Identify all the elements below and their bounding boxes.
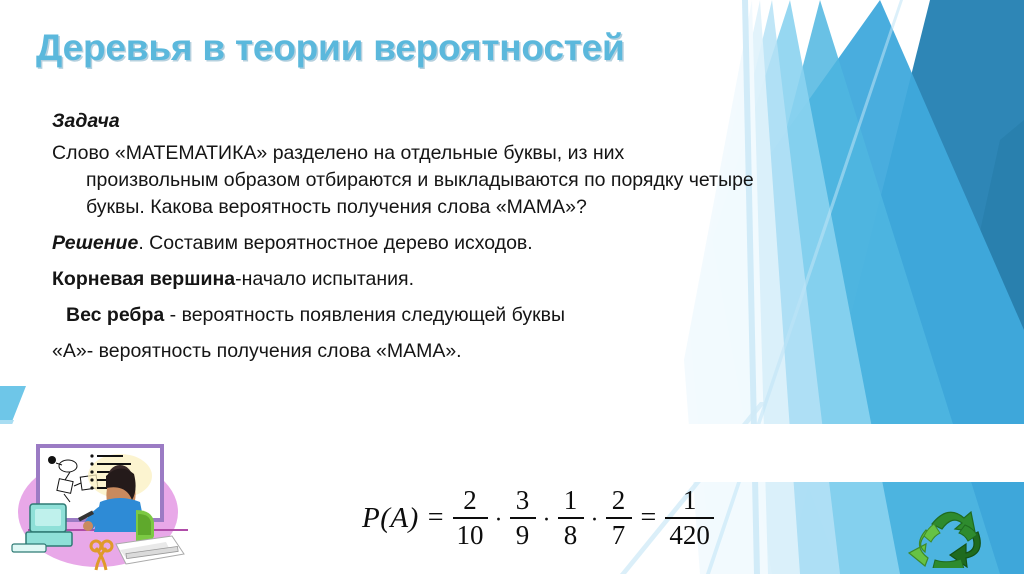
edge-weight-label: Вес ребра bbox=[66, 304, 164, 326]
formula-factor-2-denominator: 9 bbox=[512, 522, 534, 549]
root-vertex-line: Корневая вершина-начало испытания. bbox=[52, 266, 952, 293]
solution-label: Решение bbox=[52, 232, 138, 254]
formula-factor-4: 2 7 bbox=[606, 487, 632, 549]
formula-result: 1 420 bbox=[665, 487, 714, 549]
slide-body: Задача Слово «МАТЕМАТИКА» разделено на о… bbox=[52, 108, 952, 374]
formula-factor-3-numerator: 1 bbox=[560, 487, 582, 514]
formula-factor-2: 3 9 bbox=[510, 487, 536, 549]
problem-line-3: буквы. Какова вероятность получения слов… bbox=[52, 194, 952, 221]
solution-line: Решение. Составим вероятностное дерево и… bbox=[52, 230, 952, 257]
formula-result-numerator: 1 bbox=[679, 487, 701, 514]
fraction-bar bbox=[665, 517, 714, 519]
edge-weight-line: Вес ребра - вероятность появления следую… bbox=[52, 302, 952, 329]
formula-lhs: P(A) bbox=[362, 502, 419, 535]
formula-multiply-2: · bbox=[543, 507, 551, 534]
formula-multiply-1: · bbox=[495, 507, 503, 534]
solution-text: . Составим вероятностное дерево исходов. bbox=[138, 232, 532, 254]
slide-canvas: Деревья в теории вероятностей Задача Сло… bbox=[0, 0, 1024, 574]
edge-weight-text: - вероятность появления следующей буквы bbox=[164, 304, 565, 326]
recycling-symbol bbox=[902, 498, 1000, 568]
formula-factor-1-denominator: 10 bbox=[453, 522, 488, 549]
formula-factor-1-numerator: 2 bbox=[459, 487, 481, 514]
formula-multiply-3: · bbox=[591, 507, 599, 534]
formula-result-denominator: 420 bbox=[665, 522, 714, 549]
formula-factor-2-numerator: 3 bbox=[512, 487, 534, 514]
event-definition-line: «А»- вероятность получения слова «МАМА». bbox=[52, 338, 952, 365]
formula-factor-3: 1 8 bbox=[558, 487, 584, 549]
problem-heading: Задача bbox=[52, 108, 952, 135]
problem-line-1: Слово «МАТЕМАТИКА» разделено на отдельны… bbox=[52, 142, 624, 164]
formula-equals-1: = bbox=[428, 502, 444, 534]
problem-heading-label: Задача bbox=[52, 110, 120, 132]
page-title: Деревья в теории вероятностей bbox=[36, 27, 625, 69]
problem-line-2: произвольным образом отбираются и выклад… bbox=[52, 167, 952, 194]
formula-factor-4-numerator: 2 bbox=[608, 487, 630, 514]
teacher-at-whiteboard-clipart bbox=[8, 432, 194, 574]
formula-factor-4-denominator: 7 bbox=[608, 522, 630, 549]
problem-statement: Слово «МАТЕМАТИКА» разделено на отдельны… bbox=[52, 140, 952, 221]
probability-formula: P(A) = 2 10 · 3 9 · 1 8 · 2 7 = 1 bbox=[362, 487, 714, 549]
event-definition-text: «А»- вероятность получения слова «МАМА». bbox=[52, 340, 462, 362]
fraction-bar bbox=[558, 517, 584, 519]
formula-factor-1: 2 10 bbox=[453, 487, 488, 549]
fraction-bar bbox=[510, 517, 536, 519]
fraction-bar bbox=[453, 517, 488, 519]
formula-factor-3-denominator: 8 bbox=[560, 522, 582, 549]
fraction-bar bbox=[606, 517, 632, 519]
root-vertex-label: Корневая вершина bbox=[52, 268, 235, 290]
root-vertex-text: -начало испытания. bbox=[235, 268, 414, 290]
formula-equals-2: = bbox=[641, 502, 657, 534]
